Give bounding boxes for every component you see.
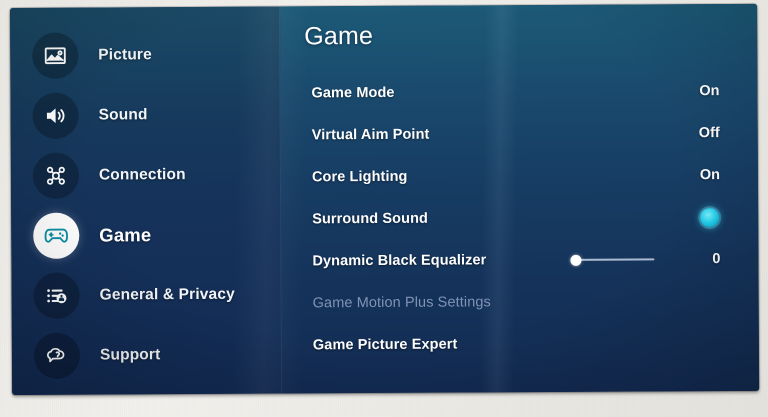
setting-row-game-picture-expert[interactable]: Game Picture Expert [282, 322, 759, 367]
slider-track [573, 258, 654, 260]
sidebar-item-support[interactable]: Support [12, 324, 282, 386]
row-spacer [457, 343, 694, 344]
settings-rows: Game Mode On Virtual Aim Point Off Core … [280, 70, 759, 367]
setting-label: Game Mode [311, 85, 394, 101]
sidebar-item-connection[interactable]: Connection [11, 144, 281, 206]
sidebar-item-label: Picture [98, 46, 152, 64]
setting-label: Dynamic Black Equalizer [312, 252, 486, 269]
setting-row-dynamic-black-equalizer[interactable]: Dynamic Black Equalizer 0 [281, 238, 758, 283]
speaker-icon [32, 93, 78, 139]
setting-value: On [694, 167, 720, 183]
dynamic-black-equalizer-slider[interactable] [570, 252, 654, 266]
setting-label: Game Motion Plus Settings [313, 294, 491, 311]
sidebar-item-label: Game [99, 224, 151, 246]
row-spacer [407, 175, 693, 177]
setting-value: 0 [694, 251, 720, 267]
setting-value: Off [694, 125, 720, 141]
row-spacer [428, 217, 700, 219]
list-person-icon [33, 273, 79, 319]
setting-row-game-motion-plus-settings: Game Motion Plus Settings [282, 280, 759, 325]
setting-label: Game Picture Expert [313, 337, 458, 354]
setting-row-core-lighting[interactable]: Core Lighting On [281, 154, 758, 199]
tv-screen: Picture Sound [10, 4, 759, 395]
gamepad-icon [33, 213, 79, 259]
settings-content-pane: Game Game Mode On Virtual Aim Point Off … [280, 4, 759, 394]
slider-thumb[interactable] [570, 254, 581, 265]
row-spacer [395, 91, 694, 93]
sidebar-nav-list: Picture Sound [10, 24, 282, 386]
sidebar-item-picture[interactable]: Picture [10, 24, 280, 86]
network-icon [33, 153, 79, 199]
setting-label: Surround Sound [312, 211, 428, 228]
sidebar-item-game[interactable]: Game [11, 204, 281, 266]
surround-sound-toggle[interactable] [700, 208, 719, 227]
setting-value: On [693, 83, 719, 99]
page-title: Game [304, 22, 373, 51]
setting-label: Virtual Aim Point [312, 127, 430, 144]
setting-row-virtual-aim-point[interactable]: Virtual Aim Point Off [281, 112, 758, 157]
help-bubble-icon [34, 333, 80, 379]
setting-row-surround-sound[interactable]: Surround Sound [281, 196, 758, 241]
row-spacer [491, 301, 695, 302]
setting-label: Core Lighting [312, 169, 408, 186]
picture-icon [32, 33, 78, 79]
settings-sidebar: Picture Sound [10, 6, 282, 395]
sidebar-item-label: Support [100, 346, 161, 364]
row-spacer [429, 133, 693, 134]
setting-row-game-mode[interactable]: Game Mode On [280, 70, 757, 115]
sidebar-item-label: Sound [99, 106, 148, 124]
sidebar-item-sound[interactable]: Sound [10, 84, 280, 146]
sidebar-item-label: Connection [99, 166, 186, 184]
sidebar-item-label: General & Privacy [100, 286, 235, 305]
sidebar-item-general-privacy[interactable]: General & Privacy [11, 264, 281, 326]
